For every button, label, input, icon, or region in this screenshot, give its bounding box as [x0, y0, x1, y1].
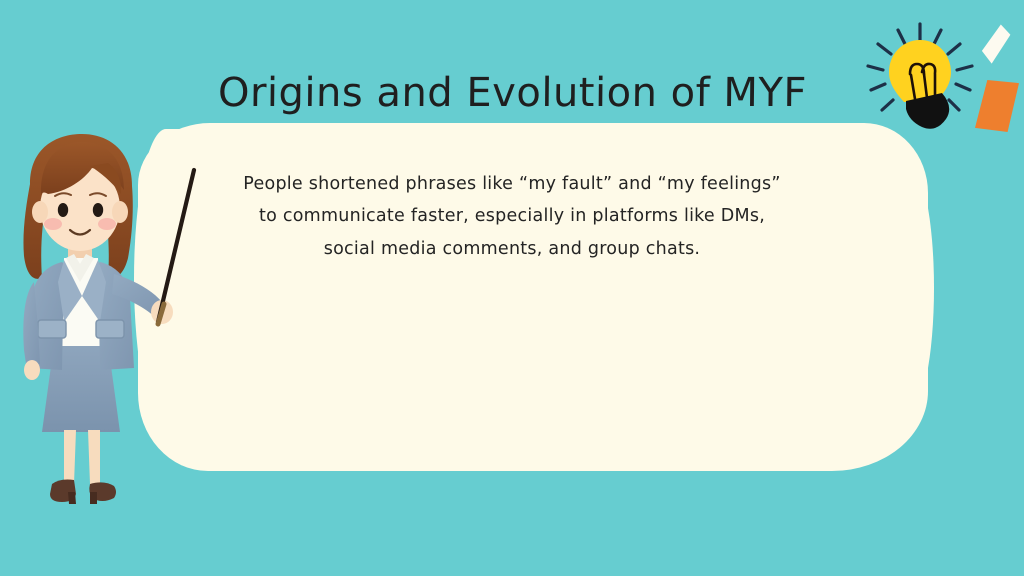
pointer-stick: [158, 170, 194, 322]
body-line-3: social media comments, and group chats.: [192, 233, 832, 265]
hand-left: [24, 360, 40, 380]
blush-left: [44, 218, 62, 230]
leg-left: [64, 430, 76, 484]
leg-right: [88, 430, 100, 484]
eye-right: [93, 203, 103, 217]
heel-left: [68, 492, 76, 504]
body-line-1: People shortened phrases like “my fault”…: [192, 168, 832, 200]
ear-left: [32, 201, 48, 223]
ear-right: [112, 201, 128, 223]
pocket-left: [38, 320, 66, 338]
blush-right: [98, 218, 116, 230]
body-paragraph: People shortened phrases like “my fault”…: [192, 168, 832, 265]
eye-left: [58, 203, 68, 217]
pocket-right: [96, 320, 124, 338]
slide-canvas: Origins and Evolution of MYF People shor…: [0, 0, 1024, 576]
heel-right: [90, 492, 97, 504]
body-line-2: to communicate faster, especially in pla…: [192, 200, 832, 232]
teacher-illustration: [8, 132, 193, 514]
page-title: Origins and Evolution of MYF: [217, 70, 806, 116]
